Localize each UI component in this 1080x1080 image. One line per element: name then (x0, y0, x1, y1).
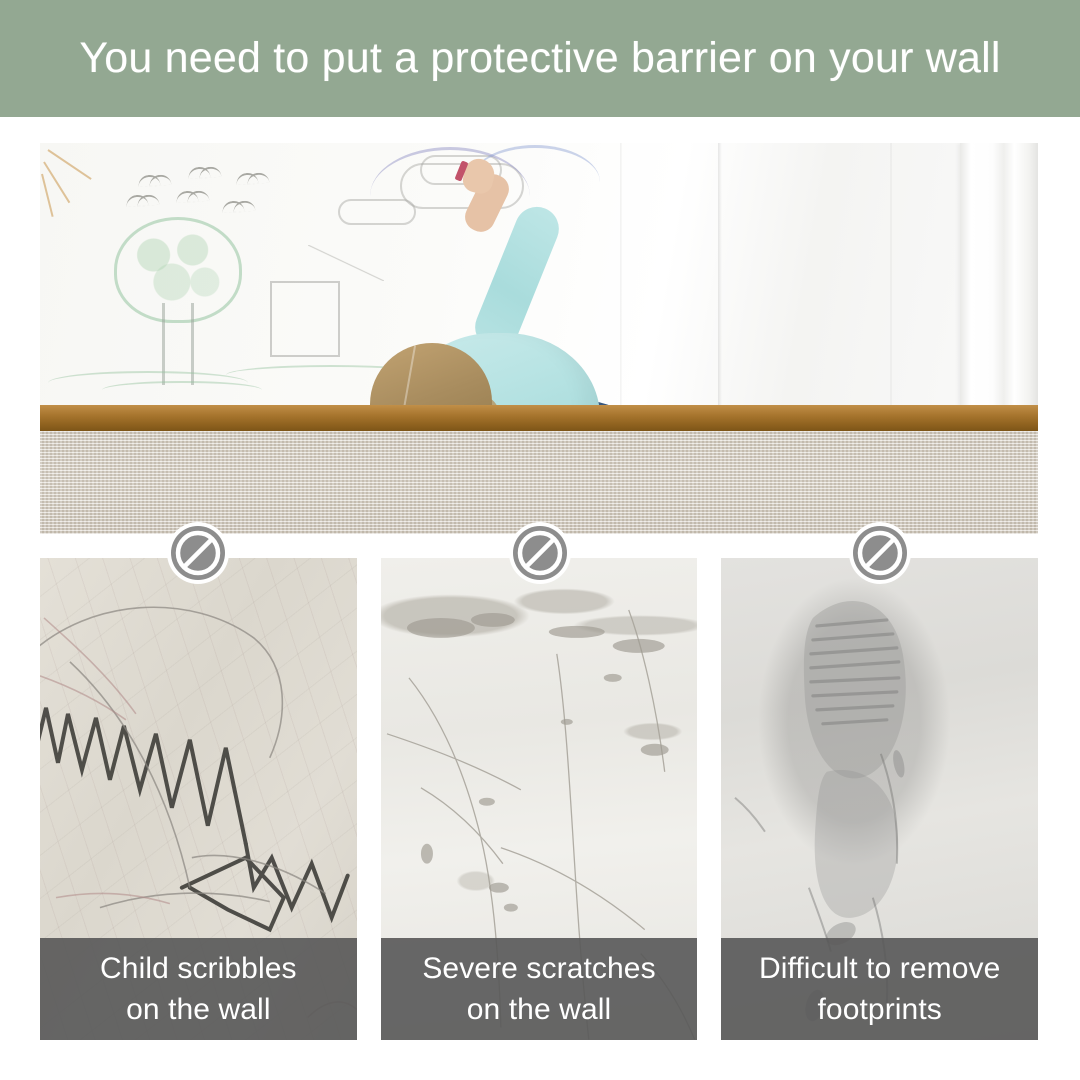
header-band: You need to put a protective barrier on … (0, 0, 1080, 117)
hero-photo (40, 143, 1038, 534)
hero-wall (40, 143, 1038, 411)
prohibition-icon (507, 520, 573, 586)
caption-line-1: Difficult to remove (759, 948, 1000, 989)
panel-child-scribbles: Child scribbles on the wall (40, 558, 357, 1040)
caption-line-1: Severe scratches (422, 948, 655, 989)
crayon-sun-ray (41, 174, 54, 217)
panel-difficult-footprints: Difficult to remove footprints (721, 558, 1038, 1040)
panel-caption: Severe scratches on the wall (381, 938, 698, 1040)
wall-seam (718, 143, 722, 411)
crayon-bird (187, 166, 210, 179)
caption-line-2: footprints (817, 989, 941, 1030)
panel-caption: Difficult to remove footprints (721, 938, 1038, 1040)
promo-graphic: You need to put a protective barrier on … (0, 0, 1080, 1080)
prohibition-icon (165, 520, 231, 586)
problem-panels: Child scribbles on the wall (40, 558, 1038, 1040)
crayon-bird (235, 172, 258, 185)
wall-seam (890, 143, 892, 411)
page-title: You need to put a protective barrier on … (79, 34, 1000, 83)
crayon-bird (175, 190, 198, 203)
panel-caption: Child scribbles on the wall (40, 938, 357, 1040)
caption-line-1: Child scribbles (100, 948, 297, 989)
carpet-floor (40, 431, 1038, 534)
crayon-house-roof (308, 245, 384, 281)
wall-seam (620, 143, 622, 411)
crayon-house-body (270, 281, 340, 357)
door-trim-column (960, 143, 1038, 408)
crayon-cloud (338, 199, 416, 225)
caption-line-2: on the wall (467, 989, 612, 1030)
caption-line-2: on the wall (126, 989, 271, 1030)
crayon-bird (137, 174, 160, 187)
crayon-bird (221, 200, 244, 213)
prohibition-icon (847, 520, 913, 586)
crayon-bird (125, 194, 148, 207)
panel-severe-scratches: Severe scratches on the wall (381, 558, 698, 1040)
wood-baseboard (40, 405, 1038, 431)
crayon-ground-line (102, 381, 262, 399)
